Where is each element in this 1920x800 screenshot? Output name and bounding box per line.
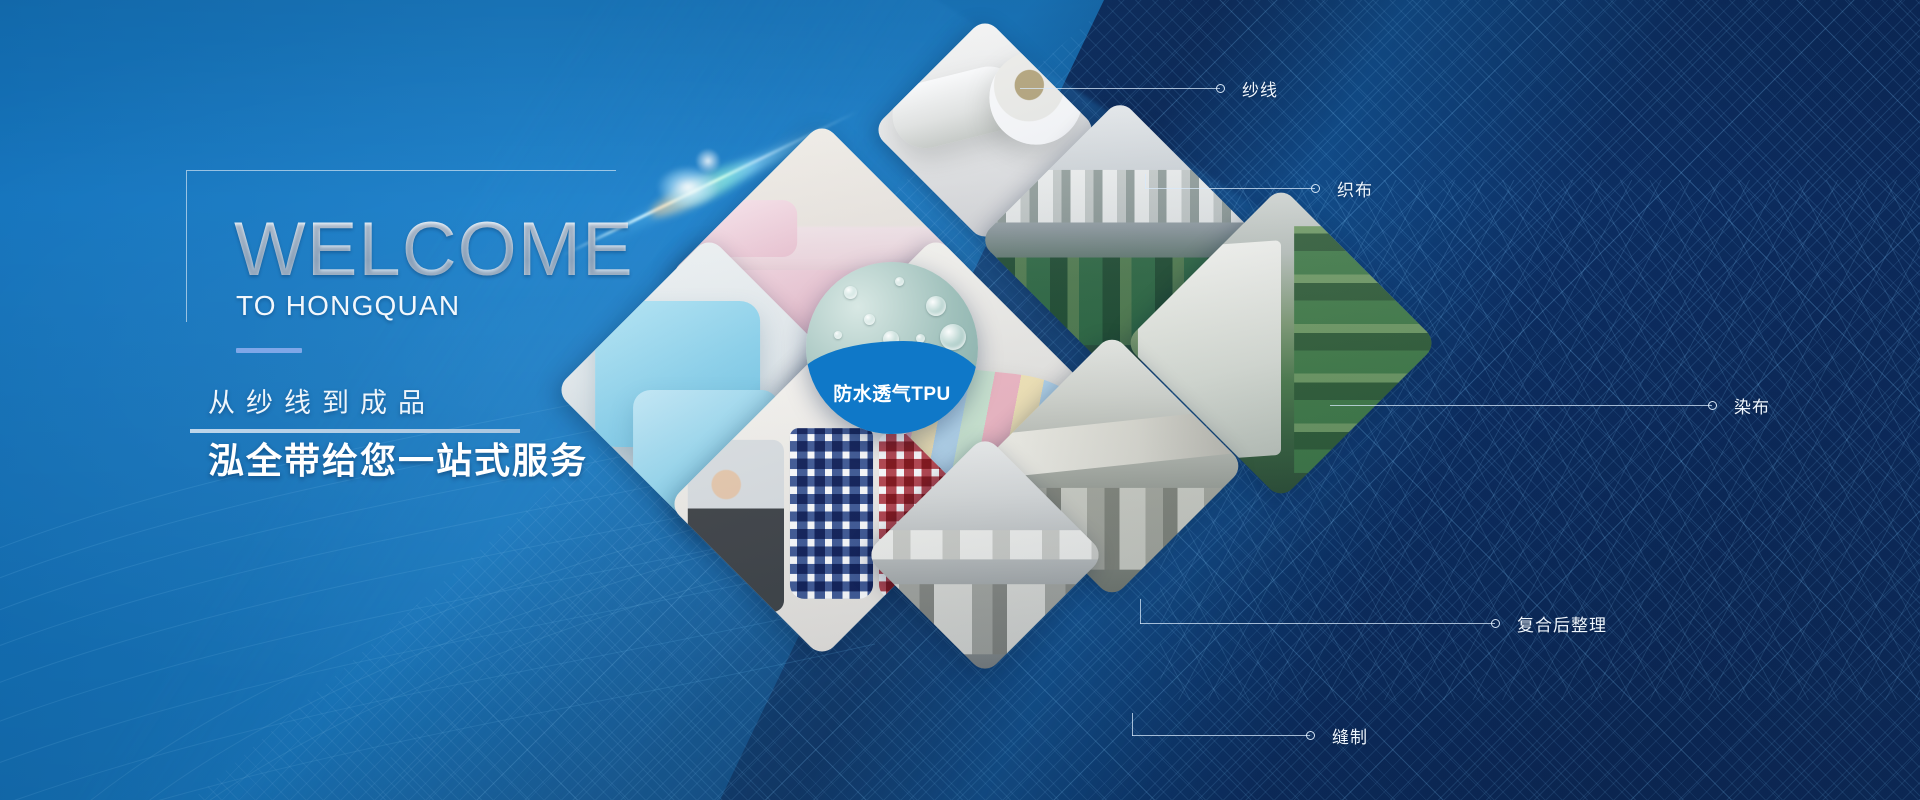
- leader-line: [1330, 405, 1712, 406]
- leader-line: [1020, 88, 1220, 89]
- leader-line: [1140, 623, 1495, 624]
- leader-elbow: [1132, 713, 1133, 736]
- process-label-weaving: 织布: [1337, 176, 1373, 201]
- leader-line: [1145, 188, 1315, 189]
- leader-elbow: [1140, 599, 1141, 624]
- welcome-banner: WELCOME TO HONGQUAN 从纱线到成品 泓全带给您一站式服务: [0, 0, 1920, 800]
- process-label-lamination: 复合后整理: [1517, 611, 1607, 636]
- leader-dot-icon: [1216, 84, 1225, 93]
- badge-label: 防水透气TPU: [806, 379, 978, 406]
- leader-elbow: [1145, 174, 1146, 189]
- leader-line: [1132, 735, 1310, 736]
- product-diamond-cluster: 防水透气TPU: [0, 0, 1920, 800]
- leader-dot-icon: [1306, 731, 1315, 740]
- process-label-dyeing: 染布: [1734, 393, 1770, 418]
- process-label-yarn: 纱线: [1242, 76, 1278, 101]
- process-label-sewing: 缝制: [1332, 723, 1368, 748]
- tpu-feature-badge[interactable]: 防水透气TPU: [806, 262, 978, 434]
- leader-dot-icon: [1491, 619, 1500, 628]
- leader-dot-icon: [1708, 401, 1717, 410]
- leader-dot-icon: [1311, 184, 1320, 193]
